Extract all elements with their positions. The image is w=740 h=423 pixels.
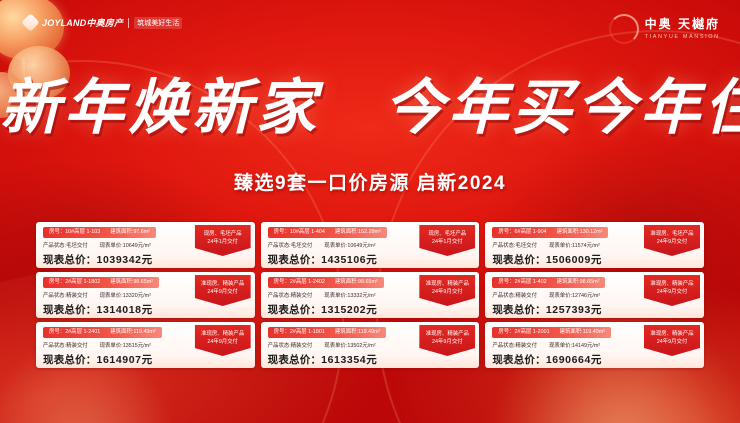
unit-price: 现表单价:13332元/m² xyxy=(324,291,375,299)
unit-no-label: 房号： xyxy=(49,279,65,285)
status-value: 精装交付 xyxy=(515,293,537,299)
unit-pill: 房号：2#高层 1-402建筑面积:98.65m² xyxy=(492,277,605,288)
unit-no: 房号：2#高层 1-1801 xyxy=(274,330,325,335)
area: 建筑面积:97.6m² xyxy=(110,230,150,235)
unit-price-label: 现表单价: xyxy=(324,243,347,249)
unit-price-label: 现表单价: xyxy=(100,293,123,299)
unit-no-label: 房号： xyxy=(498,229,514,235)
unit-price-label: 现表单价: xyxy=(324,293,347,299)
unit-pill: 房号：2#高层 1-2402建筑面积:98.65m² xyxy=(268,277,384,288)
total-price-label: 现表总价： xyxy=(43,354,97,366)
status-label: 产品状态: xyxy=(492,243,515,249)
brand-logo-left: JOYLAND中奥房产 筑城美好生活 xyxy=(24,16,182,29)
area-value: 98.65m² xyxy=(358,279,378,285)
unit-no: 房号：6#高层 1-904 xyxy=(498,230,546,235)
status: 产品状态:毛坯交付 xyxy=(43,241,88,249)
status-value: 毛坯交付 xyxy=(291,243,313,249)
unit-price: 现表单价:13320元/m² xyxy=(100,291,151,299)
unit-price-label: 现表单价: xyxy=(100,243,123,249)
area: 建筑面积:98.65m² xyxy=(557,280,600,285)
status-label: 产品状态: xyxy=(268,243,291,249)
unit-price-label: 现表单价: xyxy=(549,243,572,249)
unit-price-value: 13320元/m² xyxy=(123,293,151,299)
area: 建筑面积:152.28m² xyxy=(335,230,381,235)
unit-price: 现表单价:13515元/m² xyxy=(100,341,151,349)
area-value: 119.49m² xyxy=(358,329,380,335)
unit-pill: 房号：2#高层 1-2401建筑面积:119.49m² xyxy=(43,327,162,338)
unit-no-value: 2#高层 1-2402 xyxy=(290,279,325,285)
status-value: 精装交付 xyxy=(291,343,313,349)
unit-price: 现表单价:10649元/m² xyxy=(324,241,375,249)
area: 建筑面积:98.65m² xyxy=(110,280,153,285)
status: 产品状态:毛坯交付 xyxy=(492,241,537,249)
headline-part1: 新年焕新家 xyxy=(0,75,320,141)
badge-line-1: 准现房、精装产品 xyxy=(644,330,700,338)
unit-price-label: 现表单价: xyxy=(324,343,347,349)
logo-divider xyxy=(128,18,129,28)
area: 建筑面积:130.12m² xyxy=(557,230,603,235)
listing-card[interactable]: 房号：6#高层 1-904建筑面积:130.12m²产品状态:毛坯交付现表单价:… xyxy=(485,222,704,268)
status: 产品状态:精装交付 xyxy=(268,291,313,299)
badge-line-1: 准现房、毛坯产品 xyxy=(644,230,700,238)
unit-no-label: 房号： xyxy=(498,279,514,285)
unit-no-value: 2#高层 1-1802 xyxy=(65,279,100,285)
area: 建筑面积:119.49m² xyxy=(560,330,605,335)
total-price-value: 1039342元 xyxy=(97,254,153,266)
area-label: 建筑面积: xyxy=(335,279,358,285)
total-price-label: 现表总价： xyxy=(268,254,322,266)
ring-icon xyxy=(609,14,639,44)
status-value: 精装交付 xyxy=(66,293,88,299)
brand-name: JOYLAND中奥房产 xyxy=(42,16,123,29)
total-price-value: 1315202元 xyxy=(321,304,377,316)
area-label: 建筑面积: xyxy=(557,229,580,235)
badge-line-1: 准现房、精装产品 xyxy=(419,330,475,338)
unit-pill: 房号：2#高层 1-1801建筑面积:119.49m² xyxy=(268,327,387,338)
subtitle: 臻选9套一口价房源 启新2024 xyxy=(0,168,740,195)
status-label: 产品状态: xyxy=(43,293,66,299)
badge-line-2: 24年1月交付 xyxy=(195,238,251,246)
status: 产品状态:毛坯交付 xyxy=(268,241,313,249)
unit-price-value: 13502元/m² xyxy=(347,343,375,349)
unit-price-value: 10649元/m² xyxy=(123,243,151,249)
unit-price-label: 现表单价: xyxy=(549,343,572,349)
badge-line-1: 现房、毛坯产品 xyxy=(419,230,475,238)
status: 产品状态:精装交付 xyxy=(43,341,88,349)
status-label: 产品状态: xyxy=(43,243,66,249)
unit-price: 现表单价:12746元/m² xyxy=(549,291,600,299)
badge-line-1: 准现房、精装产品 xyxy=(419,280,475,288)
badge-line-1: 准现房、精装产品 xyxy=(644,280,700,288)
total-price-label: 现表总价： xyxy=(492,304,546,316)
unit-no-value: 2#高层 1-1801 xyxy=(290,329,325,335)
unit-pill: 房号：10#高层 1-103建筑面积:97.6m² xyxy=(43,227,156,238)
total-price-label: 现表总价： xyxy=(268,304,322,316)
area-value: 119.49m² xyxy=(583,329,605,335)
listing-card[interactable]: 房号：2#高层 1-1802建筑面积:98.65m²产品状态:精装交付现表单价:… xyxy=(36,272,255,318)
total-price-label: 现表总价： xyxy=(492,354,546,366)
badge-line-2: 24年1月交付 xyxy=(419,238,475,246)
area-label: 建筑面积: xyxy=(110,229,133,235)
project-name-cn: 中奥 天樾府 xyxy=(645,18,720,31)
unit-no-value: 6#高层 1-904 xyxy=(515,229,547,235)
unit-no-value: 10#高层 1-404 xyxy=(290,229,325,235)
unit-no: 房号：2#高层 1-2402 xyxy=(274,280,325,285)
badge-line-2: 24年9月交付 xyxy=(419,288,475,296)
badge-line-2: 24年9月交付 xyxy=(644,238,700,246)
area-value: 97.6m² xyxy=(133,229,150,235)
listing-grid: 房号：10#高层 1-103建筑面积:97.6m²产品状态:毛坯交付现表单价:1… xyxy=(36,222,704,368)
promo-poster: JOYLAND中奥房产 筑城美好生活 中奥 天樾府 TIANYUE MANSIO… xyxy=(0,0,740,423)
status-label: 产品状态: xyxy=(492,343,515,349)
status: 产品状态:精装交付 xyxy=(268,341,313,349)
unit-no: 房号：2#高层 1-2001 xyxy=(498,330,549,335)
badge-line-2: 24年9月交付 xyxy=(195,338,251,346)
unit-pill: 房号：2#高层 1-2001建筑面积:119.49m² xyxy=(492,327,611,338)
status-label: 产品状态: xyxy=(492,293,515,299)
unit-price-label: 现表单价: xyxy=(549,293,572,299)
status-value: 毛坯交付 xyxy=(515,243,537,249)
badge-line-2: 24年9月交付 xyxy=(195,288,251,296)
area: 建筑面积:119.49m² xyxy=(335,330,380,335)
status-label: 产品状态: xyxy=(268,343,291,349)
unit-no-label: 房号： xyxy=(274,279,290,285)
area: 建筑面积:98.65m² xyxy=(335,280,378,285)
unit-pill: 房号：6#高层 1-904建筑面积:130.12m² xyxy=(492,227,608,238)
status-value: 毛坯交付 xyxy=(66,243,88,249)
area-value: 98.65m² xyxy=(133,279,153,285)
unit-price-value: 10649元/m² xyxy=(347,243,375,249)
total-price-value: 1314018元 xyxy=(97,304,153,316)
badge-line-1: 现房、毛坯产品 xyxy=(195,230,251,238)
listing-card[interactable]: 房号：2#高层 1-2001建筑面积:119.49m²产品状态:精装交付现表单价… xyxy=(485,322,704,368)
unit-price-value: 14149元/m² xyxy=(572,343,600,349)
total-price-value: 1257393元 xyxy=(546,304,602,316)
area-label: 建筑面积: xyxy=(110,279,133,285)
headline-part2: 今年买今年住 xyxy=(384,75,740,141)
unit-price: 现表单价:11574元/m² xyxy=(549,241,600,249)
unit-no: 房号：10#高层 1-103 xyxy=(49,230,100,235)
badge-line-1: 准现房、精装产品 xyxy=(195,330,251,338)
badge-line-1: 准现房、精装产品 xyxy=(195,280,251,288)
unit-no-label: 房号： xyxy=(274,229,290,235)
total-price-value: 1435106元 xyxy=(321,254,377,266)
brand-slogan: 筑城美好生活 xyxy=(134,17,182,29)
unit-price-value: 11574元/m² xyxy=(572,243,600,249)
total-price-value: 1506009元 xyxy=(546,254,602,266)
badge-line-2: 24年9月交付 xyxy=(419,338,475,346)
area-label: 建筑面积: xyxy=(110,329,133,335)
status: 产品状态:精装交付 xyxy=(492,291,537,299)
area-value: 152.28m² xyxy=(358,229,381,235)
unit-no-label: 房号： xyxy=(498,329,514,335)
unit-no: 房号：10#高层 1-404 xyxy=(274,230,325,235)
status: 产品状态:精装交付 xyxy=(43,291,88,299)
unit-no-value: 2#高层 1-402 xyxy=(515,279,547,285)
unit-no-value: 2#高层 1-2401 xyxy=(65,329,100,335)
area-value: 130.12m² xyxy=(580,229,603,235)
unit-pill: 房号：2#高层 1-1802建筑面积:98.65m² xyxy=(43,277,159,288)
area-label: 建筑面积: xyxy=(335,229,358,235)
unit-price-value: 13515元/m² xyxy=(123,343,151,349)
unit-price: 现表单价:14149元/m² xyxy=(549,341,600,349)
status: 产品状态:精装交付 xyxy=(492,341,537,349)
status-label: 产品状态: xyxy=(268,293,291,299)
total-price-label: 现表总价： xyxy=(268,354,322,366)
listing-card[interactable]: 房号：10#高层 1-103建筑面积:97.6m²产品状态:毛坯交付现表单价:1… xyxy=(36,222,255,268)
area-value: 119.49m² xyxy=(133,329,155,335)
status-value: 精装交付 xyxy=(291,293,313,299)
unit-no: 房号：2#高层 1-402 xyxy=(498,280,546,285)
unit-no: 房号：2#高层 1-1802 xyxy=(49,280,100,285)
status-value: 精装交付 xyxy=(515,343,537,349)
badge-line-2: 24年9月交付 xyxy=(644,288,700,296)
badge-line-2: 24年9月交付 xyxy=(644,338,700,346)
area-label: 建筑面积: xyxy=(335,329,358,335)
listing-card[interactable]: 房号：2#高层 1-2402建筑面积:98.65m²产品状态:精装交付现表单价:… xyxy=(261,272,480,318)
unit-no-label: 房号： xyxy=(49,329,65,335)
unit-price-value: 13332元/m² xyxy=(347,293,375,299)
unit-price-label: 现表单价: xyxy=(100,343,123,349)
listing-card[interactable]: 房号：2#高层 1-2401建筑面积:119.49m²产品状态:精装交付现表单价… xyxy=(36,322,255,368)
total-price-label: 现表总价： xyxy=(43,304,97,316)
area-value: 98.65m² xyxy=(580,279,600,285)
headline: 新年焕新家 今年买今年住 xyxy=(0,78,740,138)
unit-no-label: 房号： xyxy=(274,329,290,335)
project-logo-right: 中奥 天樾府 TIANYUE MANSION xyxy=(609,14,720,44)
area-label: 建筑面积: xyxy=(557,279,580,285)
unit-no: 房号：2#高层 1-2401 xyxy=(49,330,100,335)
unit-price: 现表单价:13502元/m² xyxy=(324,341,375,349)
project-name-en: TIANYUE MANSION xyxy=(645,34,720,40)
total-price-value: 1690664元 xyxy=(546,354,602,366)
unit-price: 现表单价:10649元/m² xyxy=(100,241,151,249)
status-value: 精装交付 xyxy=(66,343,88,349)
listing-card[interactable]: 房号：2#高层 1-1801建筑面积:119.49m²产品状态:精装交付现表单价… xyxy=(261,322,480,368)
unit-no-value: 2#高层 1-2001 xyxy=(515,329,550,335)
unit-no-label: 房号： xyxy=(49,229,65,235)
total-price-value: 1613354元 xyxy=(321,354,377,366)
diamond-icon xyxy=(21,13,39,31)
unit-pill: 房号：10#高层 1-404建筑面积:152.28m² xyxy=(268,227,387,238)
unit-price-value: 12746元/m² xyxy=(572,293,600,299)
unit-no-value: 10#高层 1-103 xyxy=(65,229,100,235)
listing-card[interactable]: 房号：10#高层 1-404建筑面积:152.28m²产品状态:毛坯交付现表单价… xyxy=(261,222,480,268)
listing-card[interactable]: 房号：2#高层 1-402建筑面积:98.65m²产品状态:精装交付现表单价:1… xyxy=(485,272,704,318)
area-label: 建筑面积: xyxy=(560,329,583,335)
total-price-value: 1614907元 xyxy=(97,354,153,366)
total-price-label: 现表总价： xyxy=(492,254,546,266)
total-price-label: 现表总价： xyxy=(43,254,97,266)
area: 建筑面积:119.49m² xyxy=(110,330,155,335)
status-label: 产品状态: xyxy=(43,343,66,349)
project-logo-text: 中奥 天樾府 TIANYUE MANSION xyxy=(645,18,720,39)
